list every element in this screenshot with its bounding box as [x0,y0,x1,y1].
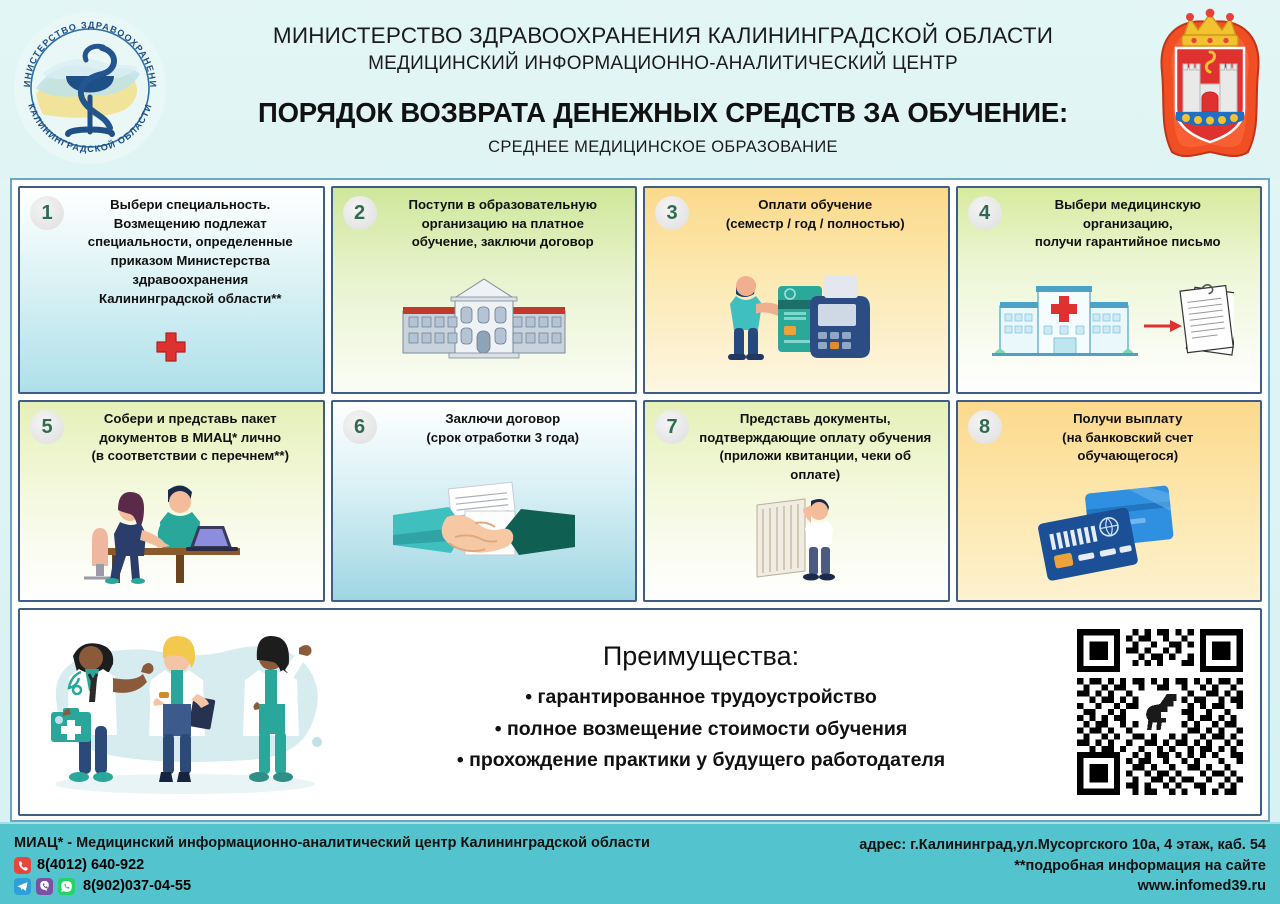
step-card-6[interactable]: 6 Заключи договор (срок отработки 3 года… [331,400,638,602]
footer-site-url[interactable]: www.infomed39.ru [859,876,1266,897]
benefits-strip: Преимущества: гарантированное трудоустро… [18,608,1262,816]
step-text-8: Получи выплату (на банковский счет обуча… [958,402,1261,466]
benefit-item-2: полное возмещение стоимости обучения [354,714,1048,746]
phone-icon [14,857,31,874]
footer-messenger-number: 8(902)037-04-55 [83,878,191,894]
kaliningrad-coat-of-arms-icon [1150,2,1270,166]
header-text-block: МИНИСТЕРСТВО ЗДРАВООХРАНЕНИЯ КАЛИНИНГРАД… [186,22,1140,157]
step-number-5: 5 [30,410,64,444]
whatsapp-icon[interactable] [58,878,75,895]
handshake-contract-icon [379,471,589,571]
step-art-4 [958,252,1261,392]
step-card-2[interactable]: 2 Поступи в образовательную организацию … [331,186,638,394]
step-card-5[interactable]: 5 Собери и представь пакет документов в … [18,400,325,602]
desk-consultation-icon [56,476,286,584]
red-cross-icon [154,330,188,364]
viber-icon[interactable] [36,878,53,895]
steps-panel: 1 Выбери специальность. Возмещению подле… [10,178,1270,822]
step-art-8 [958,466,1261,600]
benefits-heading: Преимущества: [354,641,1048,672]
step-text-3: Оплати обучение (семестр / год / полност… [645,188,948,233]
qr-code-icon[interactable] [1071,623,1249,801]
poster-footer: МИАЦ* - Медицинский информационно-аналит… [0,822,1280,904]
step-number-8: 8 [968,410,1002,444]
step-art-1 [20,308,323,392]
footer-site-note: **подробная информация на сайте [859,856,1266,877]
poster-root: МИНИСТЕРСТВО ЗДРАВООХРАНЕНИЯ КАЛИНИНГРАД… [0,0,1280,904]
step-number-3: 3 [655,196,689,230]
ministry-title-line1: МИНИСТЕРСТВО ЗДРАВООХРАНЕНИЯ КАЛИНИНГРАД… [186,22,1140,49]
step-number-6: 6 [343,410,377,444]
step-card-3[interactable]: 3 Оплати обучение (семестр / год / полно… [643,186,950,394]
footer-phone-number: 8(4012) 640-922 [37,857,144,873]
step-art-2 [333,252,636,392]
footer-right: адрес: г.Калининград,ул.Мусоргского 10а,… [859,835,1266,897]
step-card-7[interactable]: 7 Представь документы, подтверждающие оп… [643,400,950,602]
step-art-5 [20,466,323,600]
person-with-document-icon [731,495,861,583]
benefit-item-3: прохождение практики у будущего работода… [354,745,1048,777]
page-subtitle: СРЕДНЕЕ МЕДИЦИНСКОЕ ОБРАЗОВАНИЕ [186,138,1140,157]
step-number-1: 1 [30,196,64,230]
step-art-3 [645,233,948,392]
doctors-icon [25,616,345,808]
steps-row-1: 1 Выбери специальность. Возмещению подле… [18,186,1262,394]
benefits-list: гарантированное трудоустройство полное в… [354,682,1048,777]
benefit-item-1: гарантированное трудоустройство [354,682,1048,714]
step-number-4: 4 [968,196,1002,230]
step-text-1: Выбери специальность. Возмещению подлежа… [20,188,323,308]
footer-org-line: МИАЦ* - Медицинский информационно-аналит… [14,835,650,853]
benefits-text-block: Преимущества: гарантированное трудоустро… [350,637,1060,787]
footer-messengers-row[interactable]: 8(902)037-04-55 [14,878,650,895]
bank-cards-icon [1014,476,1204,584]
dinosaur-logo-icon [1139,691,1182,734]
ministry-title-line2: МЕДИЦИНСКИЙ ИНФОРМАЦИОННО-АНАЛИТИЧЕСКИЙ … [186,52,1140,77]
hospital-and-letter-icon [984,270,1234,368]
step-text-7: Представь документы, подтверждающие опла… [645,402,948,485]
footer-phone-row[interactable]: 8(4012) 640-922 [14,857,650,874]
step-text-4: Выбери медицинскую организацию, получи г… [958,188,1261,252]
step-text-2: Поступи в образовательную организацию на… [333,188,636,252]
page-title: ПОРЯДОК ВОЗВРАТА ДЕНЕЖНЫХ СРЕДСТВ ЗА ОБУ… [186,97,1140,129]
poster-header: МИНИСТЕРСТВО ЗДРАВООХРАНЕНИЯ КАЛИНИНГРАД… [0,0,1280,178]
step-number-7: 7 [655,410,689,444]
step-card-4[interactable]: 4 Выбери медицинскую организацию, получи… [956,186,1263,394]
step-text-6: Заключи договор (срок отработки 3 года) [333,402,636,447]
step-art-6 [333,447,636,600]
footer-address: адрес: г.Калининград,ул.Мусоргского 10а,… [859,835,1266,856]
step-card-1[interactable]: 1 Выбери специальность. Возмещению подле… [18,186,325,394]
telegram-icon[interactable] [14,878,31,895]
three-doctors-illustration [20,610,350,814]
card-payment-terminal-icon [706,256,886,364]
steps-row-2: 5 Собери и представь пакет документов в … [18,400,1262,602]
college-building-icon [389,273,579,365]
footer-left: МИАЦ* - Медицинский информационно-аналит… [14,835,650,895]
qr-code-wrapper[interactable] [1060,623,1260,801]
step-text-5: Собери и представь пакет документов в МИ… [20,402,323,466]
step-number-2: 2 [343,196,377,230]
step-art-7 [645,485,948,600]
ministry-emblem-icon: МИНИСТЕРСТВО ЗДРАВООХРАНЕНИЯ КАЛИНИНГРАД… [6,4,174,172]
step-card-8[interactable]: 8 Получи выплату (на банковский счет обу… [956,400,1263,602]
